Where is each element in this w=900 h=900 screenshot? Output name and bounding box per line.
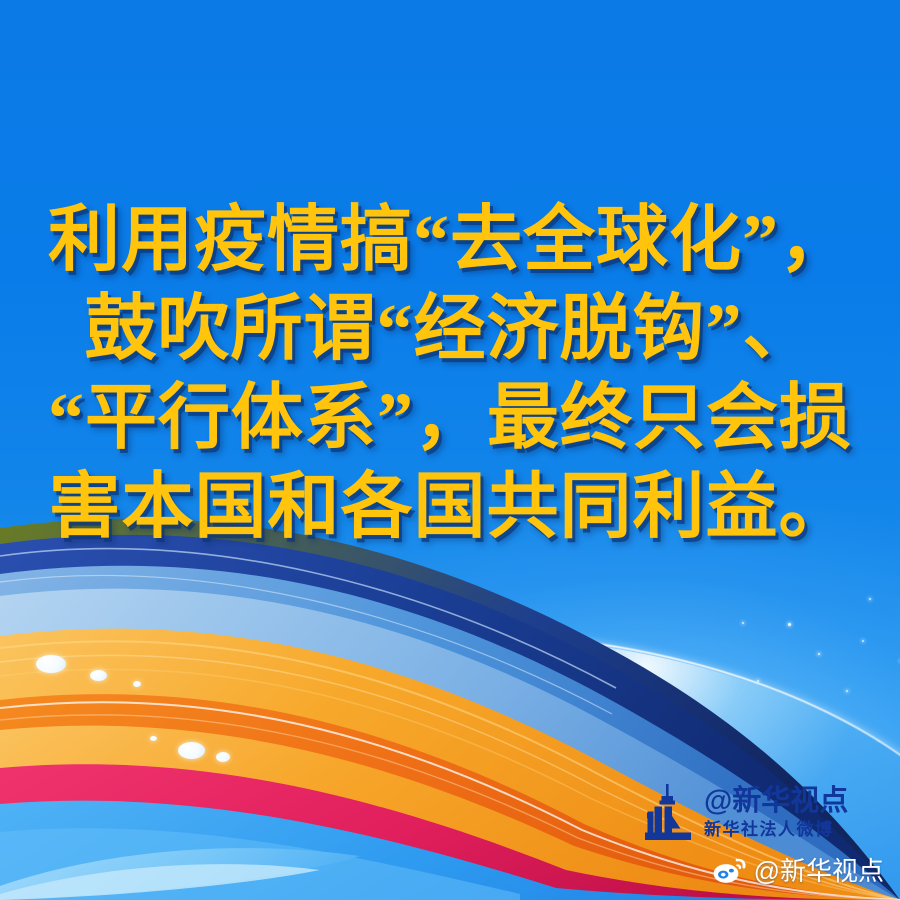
headline-line-4: 害本国和各国共同利益。 xyxy=(48,463,852,552)
bubble xyxy=(90,670,107,681)
headline-block: 利用疫情搞“去全球化”， 鼓吹所谓“经济脱钩”、 “平行体系”，最终只会损 害本… xyxy=(0,196,900,552)
bubble xyxy=(36,655,66,673)
headline-line-2: 鼓吹所谓“经济脱钩”、 xyxy=(48,285,852,374)
xinhua-emblem-icon xyxy=(641,783,695,841)
weibo-watermark[interactable]: @新华视点 xyxy=(713,851,884,888)
weibo-icon xyxy=(713,856,747,884)
logo-subtitle: 新华社法人微博 xyxy=(704,821,848,838)
star xyxy=(869,598,871,600)
star xyxy=(818,653,820,655)
xinhua-logo-lockup[interactable]: @新华视点 新华社法人微博 xyxy=(641,783,848,841)
headline-line-1: 利用疫情搞“去全球化”， xyxy=(48,196,852,285)
poster-canvas: 利用疫情搞“去全球化”， 鼓吹所谓“经济脱钩”、 “平行体系”，最终只会损 害本… xyxy=(0,0,900,900)
weibo-handle: @新华视点 xyxy=(754,851,884,888)
logo-title: @新华视点 xyxy=(704,787,848,816)
star xyxy=(862,640,864,642)
star xyxy=(757,680,759,682)
star xyxy=(846,690,848,692)
headline-line-3: “平行体系”，最终只会损 xyxy=(48,374,852,463)
star xyxy=(788,623,791,626)
logo-text-block: @新华视点 新华社法人微博 xyxy=(704,787,848,838)
star xyxy=(742,622,744,624)
